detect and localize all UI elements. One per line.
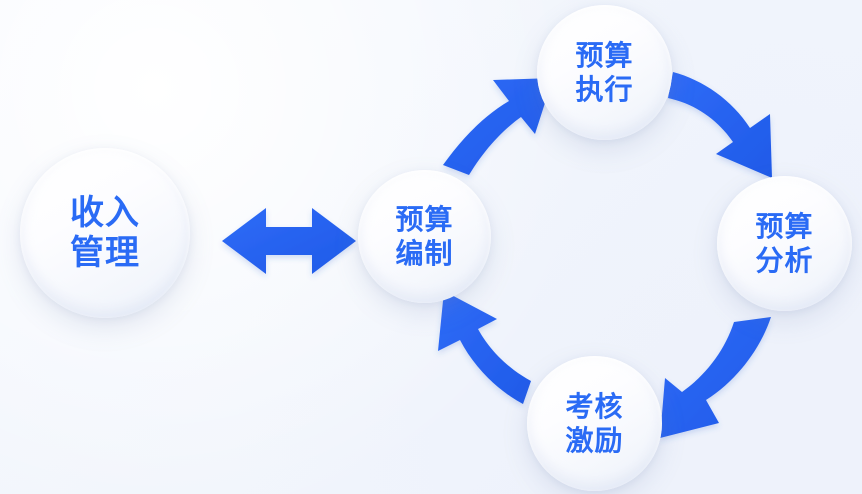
node-budget-preparation-label: 预算 编制	[395, 203, 453, 269]
node-budget-execution[interactable]: 预算 执行	[537, 5, 672, 140]
connector-income-budgeting-double-arrow	[222, 208, 356, 274]
node-budget-preparation[interactable]: 预算 编制	[358, 170, 491, 303]
connector-assessment-to-budgeting-arrow	[438, 291, 531, 404]
node-budget-analysis-label: 预算 分析	[755, 210, 813, 276]
node-budget-execution-label: 预算 执行	[575, 39, 633, 105]
node-budget-analysis[interactable]: 预算 分析	[717, 176, 852, 311]
node-assessment-incentive[interactable]: 考核 激励	[527, 356, 662, 491]
node-income-management-label: 收入 管理	[70, 193, 140, 273]
node-assessment-incentive-label: 考核 激励	[565, 390, 623, 456]
connector-budgeting-to-execution-arrow	[443, 78, 553, 175]
connector-analysis-to-assessment-arrow	[660, 317, 771, 438]
connector-execution-to-analysis-arrow	[668, 72, 772, 178]
budget-cycle-diagram: 收入 管理 预算 编制 预算 执行 预算 分析 考核 激励	[0, 0, 862, 494]
node-income-management[interactable]: 收入 管理	[20, 148, 190, 318]
